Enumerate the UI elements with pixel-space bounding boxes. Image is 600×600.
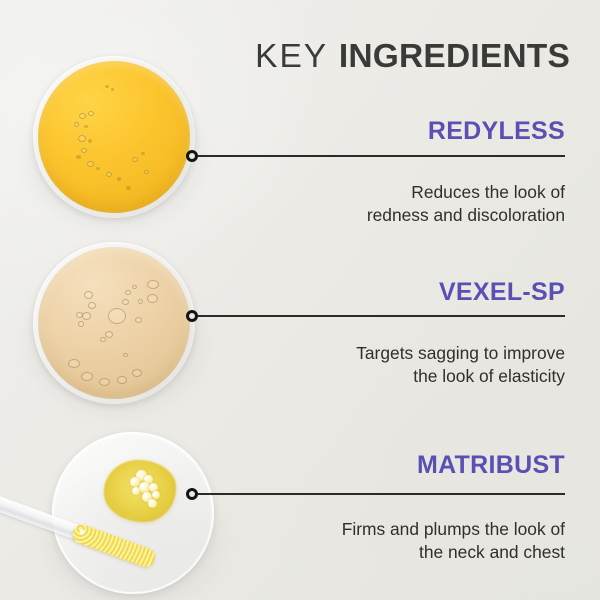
- ingredient-name-2: VEXEL-SP: [439, 279, 565, 305]
- ingredient-desc-block-1: Reduces the look of redness and discolor…: [367, 172, 565, 227]
- ingredient-desc-line2-3: the neck and chest: [342, 541, 565, 564]
- petri-dish-3: [52, 432, 214, 594]
- connector-rule-1: [194, 155, 565, 157]
- connector-marker-2: [186, 310, 198, 322]
- page-title-thin: KEY: [255, 38, 339, 75]
- connector-rule-2: [194, 315, 565, 317]
- ingredient-desc-line1-3: Firms and plumps the look of: [342, 518, 565, 541]
- petri-dish-2-liquid: [38, 247, 190, 399]
- ingredient-desc-line2-1: redness and discoloration: [367, 204, 565, 227]
- key-ingredients-infographic: KEY INGREDIENTS RE: [0, 0, 600, 600]
- gel-sample-beads: [122, 470, 166, 508]
- ingredient-desc-block-3: Firms and plumps the look of the neck an…: [342, 509, 565, 564]
- ingredient-desc-line1-2: Targets sagging to improve: [356, 342, 565, 365]
- connector-line-3: [186, 488, 565, 500]
- petri-dish-2: [33, 242, 195, 404]
- connector-rule-3: [194, 493, 565, 495]
- page-title-bold: INGREDIENTS: [339, 38, 570, 75]
- ingredient-name-1: REDYLESS: [428, 118, 565, 144]
- connector-marker-1: [186, 150, 198, 162]
- connector-marker-3: [186, 488, 198, 500]
- ingredient-desc-line1-1: Reduces the look of: [367, 181, 565, 204]
- ingredient-block-1: REDYLESS: [428, 118, 565, 144]
- petri-dish-1: [33, 56, 195, 218]
- connector-line-1: [186, 150, 565, 162]
- ingredient-desc-block-2: Targets sagging to improve the look of e…: [356, 333, 565, 388]
- petri-dish-1-liquid: [38, 61, 190, 213]
- ingredient-name-3: MATRIBUST: [417, 452, 565, 478]
- ingredient-block-3: MATRIBUST: [417, 452, 565, 478]
- ingredient-desc-line2-2: the look of elasticity: [356, 365, 565, 388]
- connector-line-2: [186, 310, 565, 322]
- ingredient-block-2: VEXEL-SP: [439, 279, 565, 305]
